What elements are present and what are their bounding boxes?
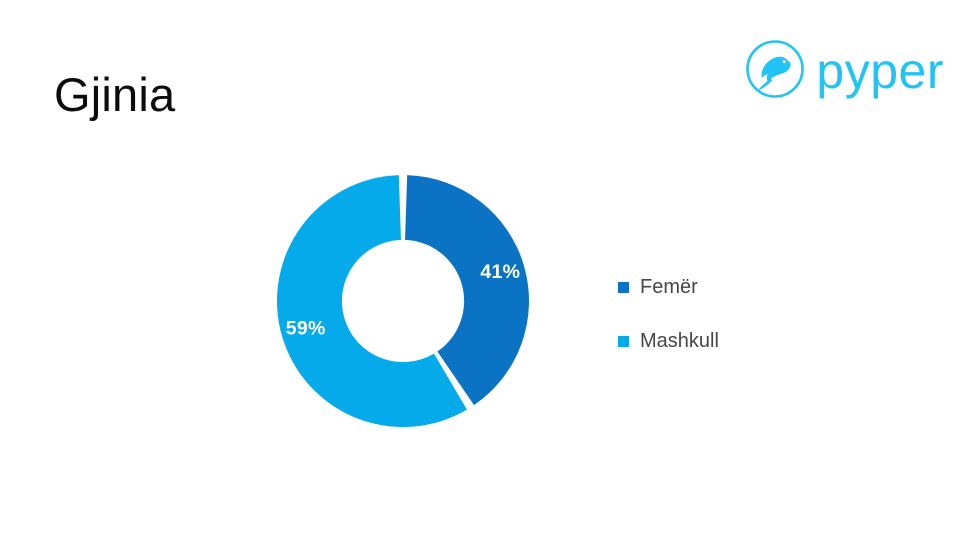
- slice-label-femer: 41%: [480, 261, 520, 283]
- slide: Gjinia pyper 41% 59% Femër: [0, 0, 980, 551]
- legend-item-mashkull[interactable]: Mashkull: [618, 331, 719, 351]
- brand-logo: pyper: [744, 38, 944, 100]
- legend-swatch-femer: [618, 282, 629, 293]
- legend-label-femer: Femër: [640, 277, 698, 297]
- slice-label-mashkull: 59%: [286, 317, 326, 339]
- chart-legend: Femër Mashkull: [618, 277, 719, 351]
- legend-swatch-mashkull: [618, 336, 629, 347]
- legend-label-mashkull: Mashkull: [640, 331, 719, 351]
- page-title: Gjinia: [54, 69, 175, 121]
- bird-in-circle-icon: [744, 38, 806, 100]
- brand-wordmark: pyper: [816, 46, 944, 96]
- legend-item-femer[interactable]: Femër: [618, 277, 719, 297]
- donut-chart: 41% 59%: [277, 175, 529, 427]
